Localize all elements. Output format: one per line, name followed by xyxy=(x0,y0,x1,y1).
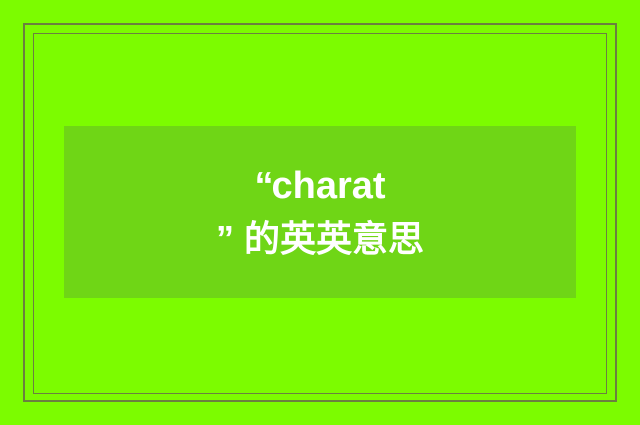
closing-quote-mark: ” xyxy=(216,216,234,261)
title-line-primary: “charat xyxy=(254,163,385,209)
title-description: 的英英意思 xyxy=(244,218,424,259)
title-term: charat xyxy=(271,165,385,207)
title-line-secondary: ”的英英意思 xyxy=(216,216,424,261)
page-canvas: “charat ”的英英意思 xyxy=(0,0,640,425)
title-card: “charat ”的英英意思 xyxy=(64,126,576,298)
